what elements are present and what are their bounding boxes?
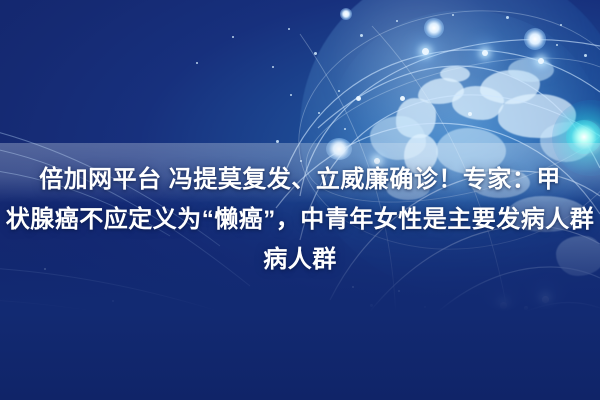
- banner-image: 倍加网平台 冯提莫复发、立威廉确诊！专家：甲 状腺癌不应定义为“懒癌”，中青年女…: [0, 0, 600, 400]
- headline: 倍加网平台 冯提莫复发、立威廉确诊！专家：甲 状腺癌不应定义为“懒癌”，中青年女…: [0, 160, 600, 280]
- headline-line-1: 倍加网平台 冯提莫复发、立威廉确诊！专家：甲: [0, 160, 600, 200]
- headline-line-2: 状腺癌不应定义为“懒癌”，中青年女性是主要发病人群: [0, 200, 600, 240]
- headline-line-3: 病人群: [0, 240, 600, 280]
- cyan-flare-core: [566, 120, 600, 154]
